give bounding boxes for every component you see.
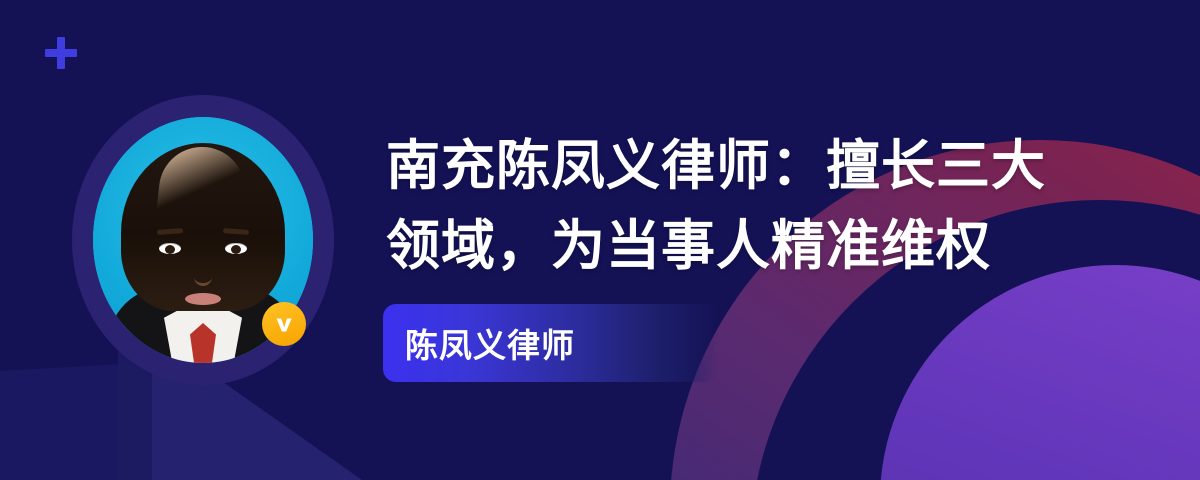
lawyer-name-chip[interactable]: 陈凤义律师: [383, 304, 718, 382]
article-header-banner: 南充陈凤义律师：擅长三大领域，为当事人精准维权 陈凤义律师: [0, 0, 1200, 480]
portrait-mouth: [185, 293, 221, 305]
page-title: 南充陈凤义律师：擅长三大领域，为当事人精准维权: [386, 126, 1076, 286]
plus-icon: [45, 37, 77, 69]
portrait-eye-right: [225, 243, 247, 254]
verified-v-icon: [262, 302, 306, 346]
portrait-pupil-right: [231, 245, 241, 254]
portrait-nose: [194, 267, 212, 286]
lawyer-name-label: 陈凤义律师: [383, 319, 575, 367]
headline-block: 南充陈凤义律师：擅长三大领域，为当事人精准维权: [386, 126, 1076, 286]
decor-arc-violet: [880, 265, 1200, 480]
portrait-eye-left: [159, 243, 181, 254]
avatar[interactable]: [72, 95, 334, 385]
portrait-pupil-left: [165, 245, 175, 254]
